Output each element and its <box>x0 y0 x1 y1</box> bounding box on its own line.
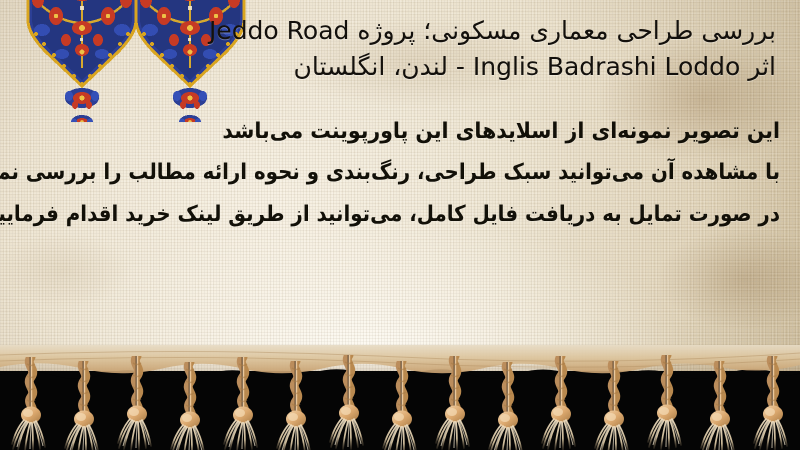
slide-body-line-1: این تصویر نمونه‌ای از اسلایدهای این پاور… <box>68 117 780 147</box>
slide-title-line-2: اثر Inglis Badrashi Loddo - لندن، انگلست… <box>14 49 776 85</box>
slide-body-line-3: در صورت تمایل به دریافت فایل کامل، می‌تو… <box>91 200 780 230</box>
slide-title-line-1: بررسی طراحی معماری مسکونی؛ پروژه Jeddo R… <box>14 13 776 49</box>
carpet-fringe <box>0 345 800 450</box>
presentation-slide: بررسی طراحی معماری مسکونی؛ پروژه Jeddo R… <box>0 0 800 450</box>
slide-body-line-2: با مشاهده آن می‌توانید سبک طراحی، رنگ‌بن… <box>91 158 780 188</box>
